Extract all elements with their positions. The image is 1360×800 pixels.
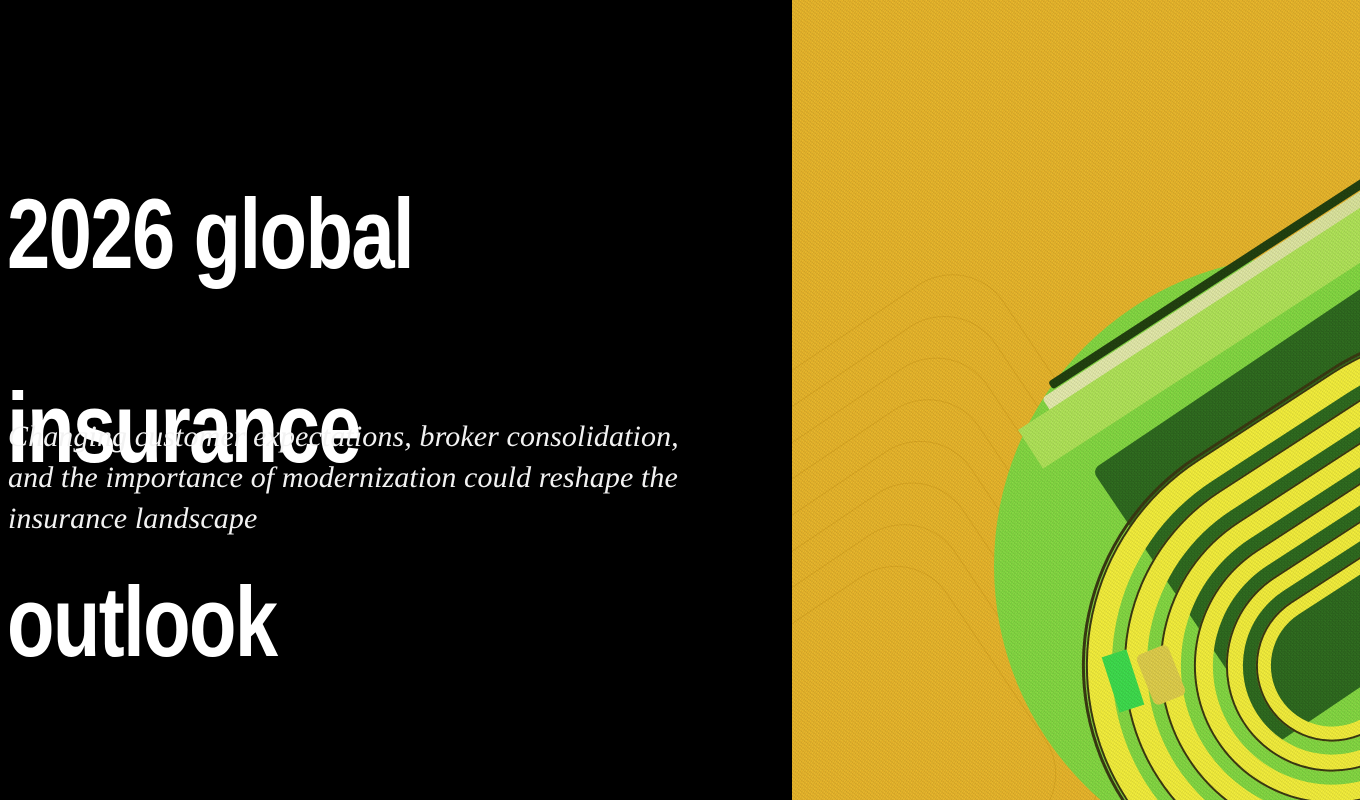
headline-line-3: outlook (7, 573, 604, 670)
report-cover-page: 2026 global insurance outlook Changing c… (0, 0, 1360, 800)
panel-divider (790, 0, 792, 800)
title-panel: 2026 global insurance outlook Changing c… (0, 0, 792, 800)
headline-line-1: 2026 global (7, 185, 604, 282)
page-subtitle: Changing customer expectations, broker c… (8, 416, 708, 539)
cover-artwork (792, 0, 1360, 800)
